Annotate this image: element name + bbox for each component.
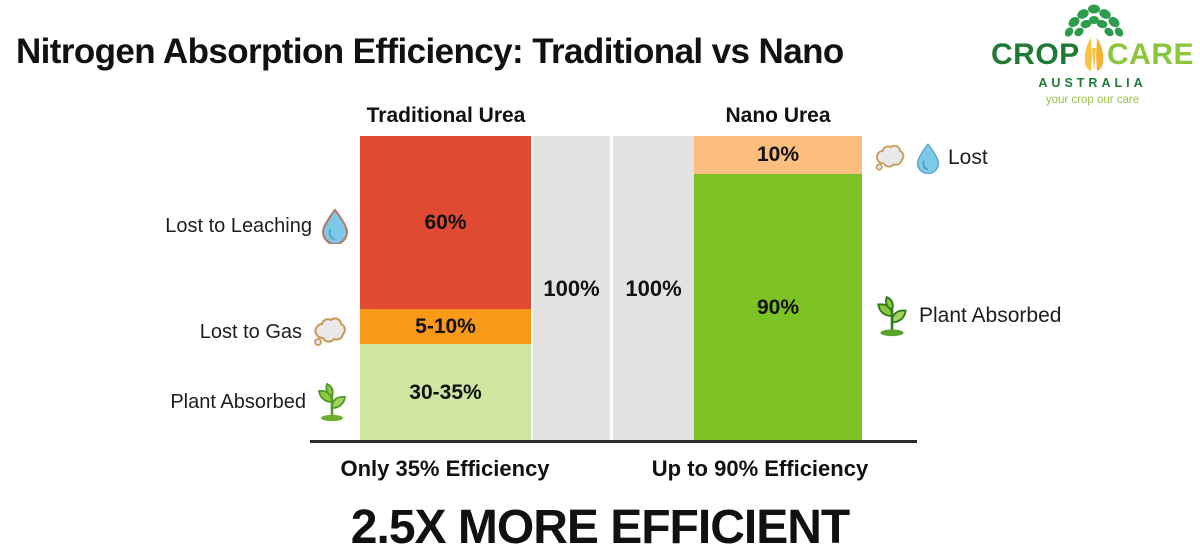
segment-nano-lost: 10% <box>694 136 862 174</box>
traditional-column-header: Traditional Urea <box>360 104 532 128</box>
seedling-icon <box>872 295 912 337</box>
label-lost-to-leaching: Lost to Leaching <box>60 208 350 244</box>
water-drop-icon <box>915 142 941 174</box>
segment-plant-absorbed-nano: 90% <box>694 174 862 441</box>
seedling-icon <box>314 382 350 422</box>
label-lost-to-leaching-text: Lost to Leaching <box>165 216 312 236</box>
gas-cloud-icon <box>872 142 908 174</box>
label-plant-absorbed: Plant Absorbed <box>60 382 350 422</box>
footer-headline: 2.5X MORE EFFICIENT <box>0 500 1200 555</box>
logo-word-care: CARE <box>1107 40 1194 70</box>
logo-tagline: your crop our care <box>985 94 1200 106</box>
label-lost-to-gas-text: Lost to Gas <box>200 322 302 342</box>
traditional-urea-bar: 60% 5-10% 30-35% <box>360 136 531 441</box>
logo: CROP CARE AUSTRALIA your crop our care <box>985 4 1200 108</box>
legend-lost: Lost <box>872 142 988 174</box>
page-title: Nitrogen Absorption Efficiency: Traditio… <box>16 32 844 72</box>
logo-country: AUSTRALIA <box>985 76 1200 90</box>
water-drop-icon <box>320 208 350 244</box>
segment-plant-absorbed-traditional: 30-35% <box>360 344 531 441</box>
legend-lost-text: Lost <box>948 146 988 170</box>
nano-column-header: Nano Urea <box>694 104 862 128</box>
caption-traditional-efficiency: Only 35% Efficiency <box>300 456 590 482</box>
total-column-traditional: 100% <box>533 136 610 441</box>
baseline-axis <box>310 440 917 443</box>
hands-icon <box>1077 36 1111 72</box>
label-lost-to-gas: Lost to Gas <box>60 315 350 349</box>
label-plant-absorbed-text: Plant Absorbed <box>170 392 306 412</box>
gas-cloud-icon <box>310 315 350 349</box>
total-column-nano: 100% <box>613 136 694 441</box>
nano-urea-bar: 10% 90% <box>694 136 862 441</box>
segment-lost-to-gas: 5-10% <box>360 309 531 344</box>
legend-plant-absorbed-text: Plant Absorbed <box>919 304 1061 328</box>
legend-plant-absorbed: Plant Absorbed <box>872 295 1061 337</box>
segment-lost-to-leaching: 60% <box>360 136 531 309</box>
caption-nano-efficiency: Up to 90% Efficiency <box>610 456 910 482</box>
logo-word-crop: CROP <box>991 40 1080 70</box>
